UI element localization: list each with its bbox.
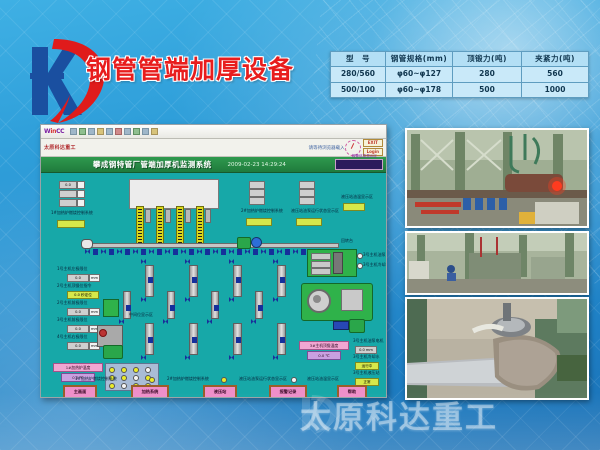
- valve-body-1: [148, 277, 153, 283]
- readout-0-unit: [77, 181, 85, 189]
- status-led[interactable]: [133, 375, 139, 381]
- cell-clamp-force: 560: [522, 67, 589, 82]
- furnace-1-burner-3: [176, 206, 184, 248]
- valve-body-5: [126, 305, 131, 311]
- valve-body-6: [170, 305, 175, 311]
- hmi-screenshot: WinCC 太原科达重工 请等待浏览器载入 EXIT: [40, 124, 387, 398]
- hmi-company-logo: 太原科达重工: [44, 144, 76, 151]
- roller-post: [93, 249, 98, 255]
- valve-d1: [141, 355, 146, 360]
- roller-valve: [117, 249, 122, 254]
- furnace-1-burner-4: [196, 206, 204, 248]
- right-machine-temp-value: 0.0 ℃: [307, 351, 341, 360]
- hydraulic-block: [333, 321, 349, 330]
- left-readout-0-unit: mm: [89, 274, 100, 282]
- section-label-oil-temp: 液压站油温显示区: [341, 195, 373, 199]
- gearbox-indicator: [99, 329, 107, 337]
- pipe-upsetting-photo: [405, 297, 589, 400]
- toolbar-icon-save[interactable]: [79, 128, 86, 135]
- roller-post: [237, 249, 242, 255]
- workshop-photo: [405, 231, 589, 295]
- furnace-1-pipe-1: [145, 209, 151, 223]
- valve-b1: [141, 297, 146, 302]
- roller-valve: [85, 249, 90, 254]
- right-readout-1-value: 运行中: [355, 362, 379, 370]
- rotary-chuck-hub: [313, 295, 321, 303]
- cell-model: 280/560: [331, 67, 386, 82]
- roller-valve: [229, 249, 234, 254]
- upsetter-slot-2: [311, 261, 331, 268]
- left-readout-0-label: 1号主机左极限位: [57, 267, 88, 271]
- status-led[interactable]: [121, 375, 127, 381]
- status-led[interactable]: [109, 367, 115, 373]
- valve-body-8: [258, 305, 263, 311]
- roller-post: [221, 249, 226, 255]
- left-readout-1-label: 2号主机顶锻位指令: [57, 284, 92, 288]
- table-row: 500/100 φ60~φ178 500 1000: [331, 82, 589, 97]
- readout-r1-value: [249, 189, 265, 197]
- furnace-temp-label: 1#加热炉温度: [53, 363, 103, 372]
- valve-d4: [273, 355, 278, 360]
- furnace-1-pipe-4: [205, 209, 211, 223]
- roller-post: [173, 249, 178, 255]
- valve-c1: [119, 319, 124, 324]
- col-header-upset-force: 顶锻力(吨): [453, 52, 522, 67]
- clamp-block: [341, 289, 363, 311]
- toolbar-icon-print[interactable]: [88, 128, 95, 135]
- right-readout-1-label: 3号主机冷却水: [353, 355, 380, 359]
- roller-valve: [261, 249, 266, 254]
- hmi-toolbar-note: 请等待浏览器载入: [309, 145, 345, 151]
- left-readout-2-value: 0.0: [67, 308, 89, 316]
- right-readout-2-label: 3号主机液压站: [353, 371, 380, 375]
- toolbar-icon-stop[interactable]: [115, 128, 122, 135]
- valve-body-4: [280, 277, 285, 283]
- valve-body-2: [192, 277, 197, 283]
- left-readout-0-value: 0.0: [67, 274, 89, 282]
- readout-2-value: [59, 199, 77, 207]
- readout-r2-value: [249, 197, 265, 205]
- rotary-drive-panel: [103, 299, 119, 317]
- valve-body-3: [236, 277, 241, 283]
- valve-c4: [251, 319, 256, 324]
- furnace-1-pipe-2: [165, 209, 171, 223]
- left-readout-3-label: 3号主机前极限位: [57, 318, 88, 322]
- upsetter-ram: [333, 252, 343, 274]
- drive-wheel: [251, 237, 262, 248]
- bottom-status-label-1: 1#加热炉燃烧控制系统: [75, 377, 117, 381]
- bottom-status-label-3: 液压站油泵运行状态显示区: [239, 377, 287, 381]
- readout-r4-value: [299, 189, 315, 197]
- page-title: 钢管管端加厚设备: [86, 50, 294, 86]
- furnace-1-burner-1: [136, 206, 144, 248]
- roller-post: [301, 249, 306, 255]
- cell-upset-force: 280: [453, 67, 522, 82]
- col-header-model: 型 号: [331, 52, 386, 67]
- drive-motor-1: [237, 237, 251, 249]
- rolling-line-photo: [405, 128, 589, 228]
- readout-2-unit: [77, 199, 85, 207]
- roller-valve: [277, 249, 282, 254]
- cell-clamp-force: 1000: [522, 82, 589, 97]
- roller-post: [269, 249, 274, 255]
- alarm-banner-label: 报警信息显示区: [352, 154, 377, 159]
- upsetter-tag: 回转台: [341, 239, 353, 243]
- toolbar-icon-zoom[interactable]: [124, 128, 131, 135]
- right-readout-0-label: 3号主机油泵电机: [353, 339, 384, 343]
- roller-post: [285, 249, 290, 255]
- valve-d2: [185, 355, 190, 360]
- col-header-clamp-force: 夹紧力(吨): [522, 52, 589, 67]
- readout-0-value: 0.0: [59, 181, 77, 189]
- hmi-toolbar: [64, 128, 386, 135]
- upsetter-slot-3: [311, 268, 331, 275]
- furnace-1-body: [129, 179, 219, 209]
- table-header-row: 型 号 钢管规格(mm) 顶锻力(吨) 夹紧力(吨): [331, 52, 589, 67]
- toolbar-icon-undo[interactable]: [97, 128, 104, 135]
- bottom-status-led-1[interactable]: [149, 377, 155, 383]
- valve-c2: [163, 319, 168, 324]
- roller-post: [253, 249, 258, 255]
- furnace-1-burner-2: [156, 206, 164, 248]
- valve-c3: [207, 319, 212, 324]
- left-readout-1-value: 0.0 秒定位: [67, 291, 99, 299]
- bottom-status-led-3[interactable]: [291, 377, 297, 383]
- readout-1-unit: [77, 190, 85, 198]
- roller-valve: [213, 249, 218, 254]
- valve-a3: [229, 259, 234, 264]
- hmi-banner-title: 攀成钢特管厂管端加厚机监测系统: [93, 159, 212, 170]
- roller-valve: [165, 249, 170, 254]
- status-led[interactable]: [121, 367, 127, 373]
- upsetter-status-2: 3号主机冷却水: [363, 263, 386, 267]
- status-led[interactable]: [109, 383, 115, 389]
- left-readout-2-label: 2号主机前极限位: [57, 301, 88, 305]
- bottom-status-label-2: 2#加热炉燃烧控制系统: [167, 377, 209, 381]
- furnace-2-setpoint: [246, 218, 272, 226]
- valve-a1: [141, 259, 146, 264]
- upsetter-slot-1: [311, 253, 331, 260]
- section-label-furnace1: 1#加热炉燃烧控制系统: [51, 211, 93, 215]
- roller-post: [141, 249, 146, 255]
- exit-button[interactable]: EXIT: [363, 139, 383, 147]
- valve-body-11: [236, 337, 241, 343]
- hydraulic-setpoint: [296, 218, 322, 226]
- nav-button-heating[interactable]: 加热系统: [131, 385, 169, 398]
- table-row: 280/560 φ60~φ127 280 560: [331, 67, 589, 82]
- roller-valve: [181, 249, 186, 254]
- right-machine-temp-label: 3#主机顶锻温度: [299, 341, 349, 350]
- bottom-status-led-2[interactable]: [221, 377, 227, 383]
- feed-roller: [81, 239, 93, 249]
- col-header-pipe-spec: 钢管规格(mm): [386, 52, 453, 67]
- valve-b2: [185, 297, 190, 302]
- conveyor-rail: [87, 243, 339, 248]
- readout-r3-value: [299, 181, 315, 189]
- roller-post: [189, 249, 194, 255]
- toolbar-icon-open[interactable]: [70, 128, 77, 135]
- valve-body-10: [192, 337, 197, 343]
- roller-table: [85, 249, 341, 259]
- right-readout-0-value: 0.0 mm: [355, 346, 377, 354]
- left-readout-3-value: 0.0: [67, 325, 89, 333]
- valve-b3: [229, 297, 234, 302]
- status-led[interactable]: [133, 367, 139, 373]
- nav-button-main[interactable]: 主画面: [63, 385, 97, 398]
- hmi-subheader: 太原科达重工 请等待浏览器载入 EXIT Login: [41, 139, 386, 157]
- roller-valve: [101, 249, 106, 254]
- bottom-status-label-4: 液压站油温显示区: [307, 377, 339, 381]
- nav-button-hydraulic[interactable]: 液压站: [203, 385, 237, 398]
- toolbar-icon-help[interactable]: [151, 128, 158, 135]
- roller-post: [157, 249, 162, 255]
- readout-r0-value: [249, 181, 265, 189]
- roller-post: [125, 249, 130, 255]
- toolbar-icon-run[interactable]: [133, 128, 140, 135]
- pump-motor: [349, 319, 365, 333]
- valve-body-12: [280, 337, 285, 343]
- cell-model: 500/100: [331, 82, 386, 97]
- roller-post: [205, 249, 210, 255]
- left-readout-4-value: 0.0: [67, 342, 89, 350]
- valve-body-7: [214, 305, 219, 311]
- roller-post: [109, 249, 114, 255]
- toolbar-icon-grid[interactable]: [142, 128, 149, 135]
- roller-valve: [197, 249, 202, 254]
- valve-d3: [229, 355, 234, 360]
- readout-1-value: [59, 190, 77, 198]
- cell-pipe-spec: φ60~φ127: [386, 67, 453, 82]
- valve-a2: [185, 259, 190, 264]
- furnace-1-setpoint: [57, 220, 85, 228]
- slide-canvas: 钢管管端加厚设备 型 号 钢管规格(mm) 顶锻力(吨) 夹紧力(吨) 280/…: [0, 0, 600, 450]
- toolbar-icon-redo[interactable]: [106, 128, 113, 135]
- wincc-logo: WinCC: [41, 128, 64, 135]
- roller-valve: [149, 249, 154, 254]
- cell-upset-force: 500: [453, 82, 522, 97]
- cell-pipe-spec: φ60~φ178: [386, 82, 453, 97]
- mimic-canvas: 0.0 1#加热炉燃烧控制系统 2#加热炉燃烧控制系统 液压站油泵运行状态显示区…: [41, 173, 386, 398]
- hmi-banner: 攀成钢特管厂管端加厚机监测系统 2009-02-23 14:29:24 报警信息…: [41, 157, 386, 173]
- valve-a4: [273, 259, 278, 264]
- hmi-titlebar: WinCC: [41, 125, 386, 139]
- rotary-motor: [103, 345, 123, 359]
- center-tag-label: 中间位显示区: [129, 313, 153, 317]
- roller-valve: [133, 249, 138, 254]
- status-led[interactable]: [121, 383, 127, 389]
- alarm-banner[interactable]: 报警信息显示区: [335, 159, 383, 170]
- valve-body-9: [148, 337, 153, 343]
- furnace-1-pipe-3: [185, 209, 191, 223]
- left-readout-2-unit: mm: [89, 308, 100, 316]
- hmi-timestamp: 2009-02-23 14:29:24: [228, 162, 286, 168]
- spec-table: 型 号 钢管规格(mm) 顶锻力(吨) 夹紧力(吨) 280/560 φ60~φ…: [330, 51, 589, 98]
- oil-temp-value: [343, 203, 365, 211]
- left-readout-4-label: 4号主机右极限位: [57, 335, 88, 339]
- readout-r5-value: [299, 197, 315, 205]
- roller-valve: [245, 249, 250, 254]
- status-led[interactable]: [145, 367, 151, 373]
- section-label-furnace2: 2#加热炉燃烧控制系统: [241, 209, 283, 213]
- watermark-text: 太原科达重工: [300, 392, 498, 437]
- section-label-hydraulic: 液压站油泵运行状态显示区: [291, 209, 339, 213]
- upsetter-status-1: 3号主机油泵电机: [363, 253, 386, 257]
- valve-b4: [273, 297, 278, 302]
- roller-valve: [293, 249, 298, 254]
